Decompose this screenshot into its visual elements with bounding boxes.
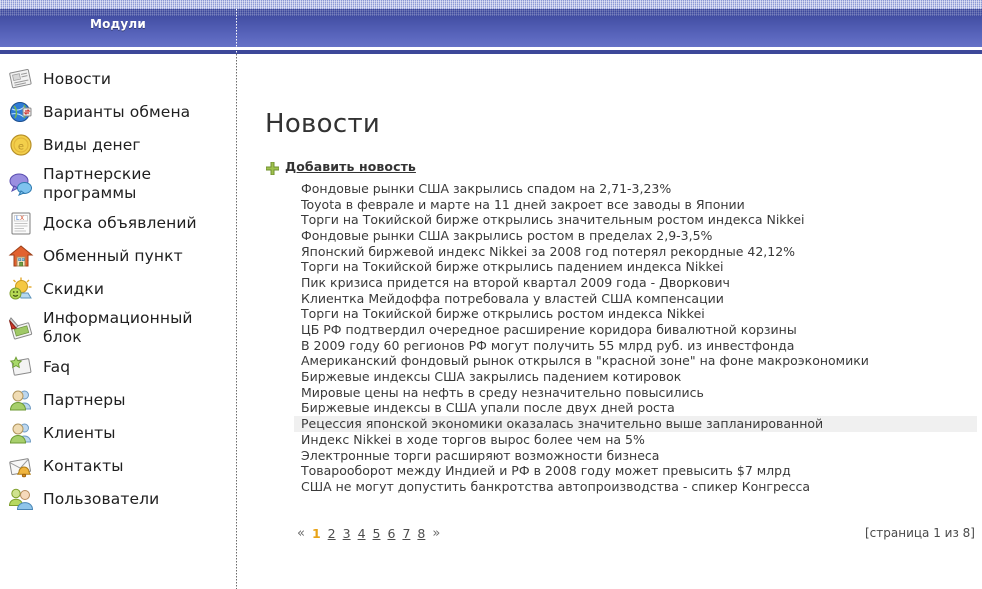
sidebar-item-label: Доска объявлений: [43, 214, 197, 232]
modules-panel-title: Модули: [0, 17, 236, 31]
modules-sidebar: НовостиВарианты обменаeВиды денегПартнер…: [0, 54, 236, 589]
news-row[interactable]: Toyota в феврале и марте на 11 дней закр…: [294, 197, 977, 213]
pagination-page-4[interactable]: 4: [358, 526, 366, 541]
news-row[interactable]: США не могут допустить банкротства автоп…: [294, 479, 977, 495]
sidebar-item-label: Информационный блок: [43, 309, 230, 347]
pen-note-icon: [8, 315, 34, 341]
pagination-first-arrow[interactable]: «: [297, 526, 305, 541]
bulletin-board-icon: LX: [8, 210, 34, 236]
sidebar-item-1[interactable]: Варианты обмена: [0, 99, 236, 125]
news-title: США не могут допустить банкротства автоп…: [301, 480, 810, 494]
chat-bubbles-icon: [8, 171, 34, 197]
sidebar-item-7[interactable]: Информационный блок: [0, 309, 236, 347]
pagination-page-8[interactable]: 8: [417, 526, 425, 541]
news-title: Индекс Nikkei в ходе торгов вырос более …: [301, 433, 645, 447]
news-title: Клиентка Мейдоффа потребовала у властей …: [301, 292, 724, 306]
header-dot-pattern: [0, 0, 982, 9]
sidebar-item-9[interactable]: Партнеры: [0, 387, 236, 413]
sidebar-item-label: Партнерские программы: [43, 165, 230, 203]
users-group-icon: [8, 486, 34, 512]
sun-smiley-icon: [8, 276, 34, 302]
sidebar-item-3[interactable]: Партнерские программы: [0, 165, 236, 203]
sidebar-item-label: Варианты обмена: [43, 103, 190, 121]
pagination-page-3[interactable]: 3: [343, 526, 351, 541]
news-row[interactable]: Японский биржевой индекс Nikkei за 2008 …: [294, 244, 977, 260]
news-title: Фондовые рынки США закрылись ростом в пр…: [301, 229, 712, 243]
news-row[interactable]: Биржевые индексы в США упали после двух …: [294, 401, 977, 417]
sidebar-item-label: Обменный пункт: [43, 247, 183, 265]
news-title: Рецессия японской экономики оказалась зн…: [301, 417, 823, 431]
news-title: Мировые цены на нефть в среду незначител…: [301, 386, 704, 400]
news-row[interactable]: Американский фондовый рынок открылся в "…: [294, 354, 977, 370]
news-row[interactable]: Электронные торги расширяют возможности …: [294, 448, 977, 464]
sidebar-item-2[interactable]: eВиды денег: [0, 132, 236, 158]
news-row[interactable]: Торги на Токийской бирже открылись паден…: [294, 259, 977, 275]
pagination-page-1: 1: [312, 526, 321, 541]
news-row[interactable]: Рецессия японской экономики оказалась зн…: [294, 416, 977, 432]
sidebar-item-label: Контакты: [43, 457, 124, 475]
news-title: Японский биржевой индекс Nikkei за 2008 …: [301, 245, 795, 259]
add-news-label: Добавить новость: [285, 159, 416, 174]
pagination-page-2[interactable]: 2: [328, 526, 336, 541]
star-folder-icon: [8, 354, 34, 380]
two-users-icon: [8, 387, 34, 413]
sidebar-item-label: Новости: [43, 70, 111, 88]
svg-text:e: e: [18, 142, 24, 153]
news-row[interactable]: Торги на Токийской бирже открылись росто…: [294, 307, 977, 323]
news-row[interactable]: Мировые цены на нефть в среду незначител…: [294, 385, 977, 401]
sidebar-item-8[interactable]: Faq: [0, 354, 236, 380]
sidebar-item-label: Пользователи: [43, 490, 159, 508]
sidebar-item-10[interactable]: Клиенты: [0, 420, 236, 446]
pagination-page-5[interactable]: 5: [373, 526, 381, 541]
content-area: Новости Добавить новость Фондовые рынки …: [237, 54, 982, 589]
two-users-icon: [8, 420, 34, 446]
sidebar-item-4[interactable]: LXДоска объявлений: [0, 210, 236, 236]
news-icon: [8, 66, 34, 92]
sidebar-item-12[interactable]: Пользователи: [0, 486, 236, 512]
news-title: Toyota в феврале и марте на 11 дней закр…: [301, 198, 745, 212]
news-row[interactable]: Индекс Nikkei в ходе торгов вырос более …: [294, 432, 977, 448]
news-row[interactable]: Биржевые индексы США закрылись падением …: [294, 369, 977, 385]
news-title: Биржевые индексы в США упали после двух …: [301, 401, 675, 415]
page-title: Новости: [265, 109, 380, 139]
news-row[interactable]: ЦБ РФ подтвердил очередное расширение ко…: [294, 322, 977, 338]
news-title: Фондовые рынки США закрылись спадом на 2…: [301, 182, 671, 196]
news-title: Пик кризиса придется на второй квартал 2…: [301, 276, 730, 290]
sidebar-item-0[interactable]: Новости: [0, 66, 236, 92]
pagination: «12345678»: [297, 526, 440, 541]
sidebar-item-label: Faq: [43, 358, 70, 376]
news-title: Торги на Токийской бирже открылись паден…: [301, 260, 724, 274]
sidebar-item-6[interactable]: Скидки: [0, 276, 236, 302]
envelope-bell-icon: [8, 453, 34, 479]
news-title: Торги на Токийской бирже открылись значи…: [301, 213, 805, 227]
pagination-page-6[interactable]: 6: [387, 526, 395, 541]
pagination-page-7[interactable]: 7: [402, 526, 410, 541]
news-title: Биржевые индексы США закрылись падением …: [301, 370, 681, 384]
top-header-bar: Модули: [0, 0, 982, 54]
news-title: В 2009 году 60 регионов РФ могут получит…: [301, 339, 794, 353]
news-row[interactable]: В 2009 году 60 регионов РФ могут получит…: [294, 338, 977, 354]
news-list: Фондовые рынки США закрылись спадом на 2…: [294, 181, 977, 495]
sidebar-item-label: Клиенты: [43, 424, 116, 442]
news-title: Торги на Токийской бирже открылись росто…: [301, 307, 705, 321]
coin-icon: e: [8, 132, 34, 158]
house-icon: [8, 243, 34, 269]
add-news-link[interactable]: Добавить новость: [266, 159, 416, 174]
sidebar-item-label: Виды денег: [43, 136, 141, 154]
news-row[interactable]: Товарооборот между Индией и РФ в 2008 го…: [294, 463, 977, 479]
sidebar-item-label: Скидки: [43, 280, 104, 298]
header-column-divider: [236, 9, 237, 54]
svg-text:X: X: [20, 215, 24, 222]
pagination-last-arrow[interactable]: »: [432, 526, 440, 541]
news-row[interactable]: Пик кризиса придется на второй квартал 2…: [294, 275, 977, 291]
news-title: Американский фондовый рынок открылся в "…: [301, 354, 869, 368]
sidebar-item-5[interactable]: Обменный пункт: [0, 243, 236, 269]
news-title: ЦБ РФ подтвердил очередное расширение ко…: [301, 323, 797, 337]
news-row[interactable]: Торги на Токийской бирже открылись значи…: [294, 212, 977, 228]
page-indicator: [страница 1 из 8]: [865, 526, 975, 540]
news-row[interactable]: Клиентка Мейдоффа потребовала у властей …: [294, 291, 977, 307]
news-row[interactable]: Фондовые рынки США закрылись спадом на 2…: [294, 181, 977, 197]
news-title: Электронные торги расширяют возможности …: [301, 449, 659, 463]
news-row[interactable]: Фондовые рынки США закрылись ростом в пр…: [294, 228, 977, 244]
green-plus-icon: [266, 160, 279, 173]
globe-exchange-icon: [8, 99, 34, 125]
news-title: Товарооборот между Индией и РФ в 2008 го…: [301, 464, 791, 478]
sidebar-item-label: Партнеры: [43, 391, 126, 409]
sidebar-item-11[interactable]: Контакты: [0, 453, 236, 479]
